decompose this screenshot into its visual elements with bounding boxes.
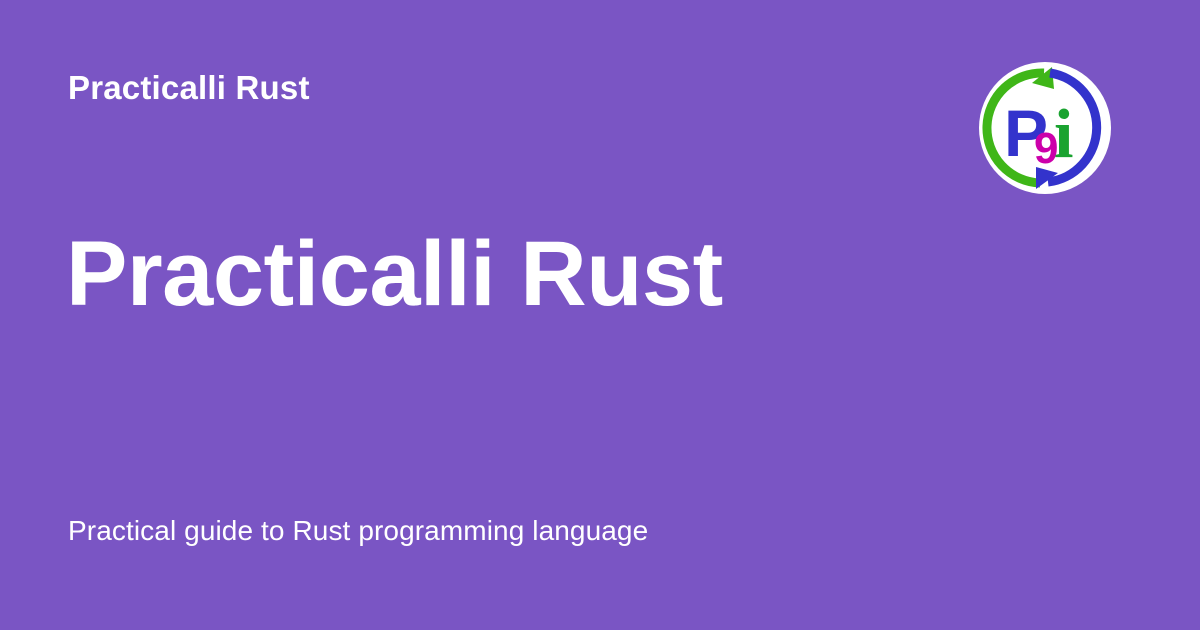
social-card: Practicalli Rust Practicalli Rust Practi… <box>0 0 1200 630</box>
site-name: Practicalli Rust <box>68 68 310 108</box>
page-title: Practicalli Rust <box>66 224 723 325</box>
page-description: Practical guide to Rust programming lang… <box>68 513 648 549</box>
practicalli-logo: P 9 i <box>978 61 1112 195</box>
logo-letter-i: i <box>1054 96 1073 173</box>
